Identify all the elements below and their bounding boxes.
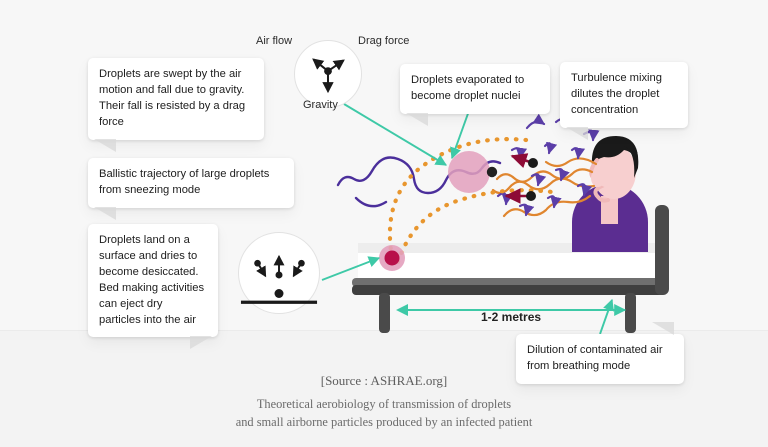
infographic-canvas: Air flow Drag force Gravity 1-2 metres D… [0,0,768,446]
callout-tail [652,322,674,335]
label-air-flow: Air flow [256,35,292,47]
callout-droplets-evaporated: Droplets evaporated to become droplet nu… [400,64,550,114]
callout-text: Droplets land on a surface and dries to … [99,234,204,326]
figure-description-line1: Theoretical aerobiology of transmission … [0,396,768,414]
callout-tail [566,127,588,140]
callout-tail [190,336,212,349]
bed-making-diagram [239,233,319,313]
bed-making-inset [238,232,320,314]
callout-text: Droplets evaporated to become droplet nu… [411,74,524,102]
callout-tail [406,113,428,126]
figure-description-line2: and small airborne particles produced by… [0,414,768,432]
label-gravity: Gravity [303,99,338,111]
callout-tail [94,207,116,220]
callout-text: Dilution of contaminated air from breath… [527,344,663,372]
callout-tail [94,139,116,152]
callout-droplets-land: Droplets land on a surface and dries to … [88,224,218,337]
label-drag-force: Drag force [358,35,409,47]
callout-droplets-swept: Droplets are swept by the air motion and… [88,58,264,140]
force-balance-inset [294,40,362,108]
callout-text: Ballistic trajectory of large droplets f… [99,168,269,196]
label-distance: 1-2 metres [481,310,541,324]
force-balance-diagram [295,41,361,107]
callout-turbulence-mixing: Turbulence mixing dilutes the droplet co… [560,62,688,128]
figure-description: Theoretical aerobiology of transmission … [0,396,768,431]
callout-ballistic-trajectory: Ballistic trajectory of large droplets f… [88,158,294,208]
callout-text: Turbulence mixing dilutes the droplet co… [571,72,662,116]
callout-text: Droplets are swept by the air motion and… [99,68,245,128]
callout-dilution-contaminated: Dilution of contaminated air from breath… [516,334,684,384]
